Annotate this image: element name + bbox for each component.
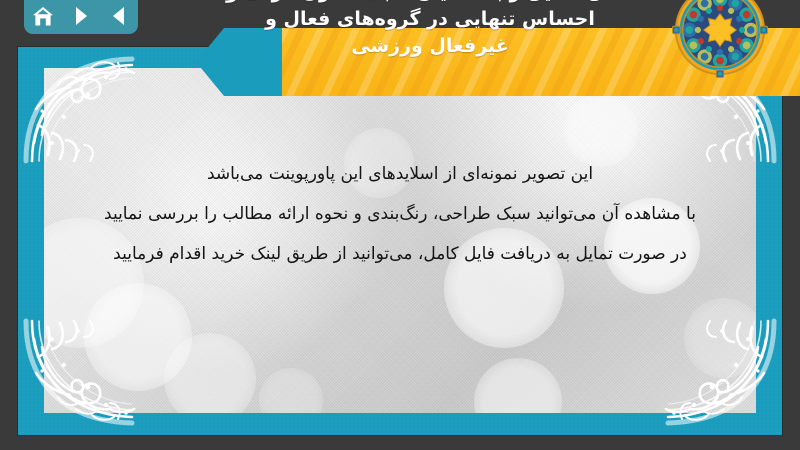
triangle-right-icon — [72, 6, 90, 26]
body-line: با مشاهده آن می‌توانید سبک طراحی، رنگ‌بن… — [74, 194, 726, 234]
home-icon — [32, 6, 54, 27]
bokeh-circle — [684, 298, 756, 378]
slide-content-panel: این تصویر نمونه‌ای از اسلایدهای این پاور… — [44, 68, 756, 413]
next-slide-button[interactable] — [67, 3, 95, 29]
triangle-left-icon — [110, 6, 128, 26]
bokeh-circle — [474, 358, 562, 413]
bokeh-circle — [164, 333, 256, 413]
slide-frame: این تصویر نمونه‌ای از اسلایدهای این پاور… — [18, 47, 782, 435]
body-line: این تصویر نمونه‌ای از اسلایدهای این پاور… — [74, 154, 726, 194]
slide-body-text: این تصویر نمونه‌ای از اسلایدهای این پاور… — [74, 154, 726, 274]
decorative-medallion-icon — [672, 0, 768, 78]
previous-slide-button[interactable] — [105, 3, 133, 29]
bokeh-circle — [259, 368, 323, 413]
bokeh-circle — [84, 283, 192, 391]
slide-viewer: این تصویر نمونه‌ای از اسلایدهای این پاور… — [0, 0, 800, 450]
body-line: در صورت تمایل به دریافت فایل کامل، می‌تو… — [74, 234, 726, 274]
home-button[interactable] — [29, 3, 57, 29]
slide-navigation-bar — [24, 0, 138, 34]
title-line: احساس تنهایی در گروه‌های فعال و — [180, 6, 680, 33]
title-line: کامل تحلیل رابطه میان سبک کنترل فردی و — [180, 0, 680, 6]
